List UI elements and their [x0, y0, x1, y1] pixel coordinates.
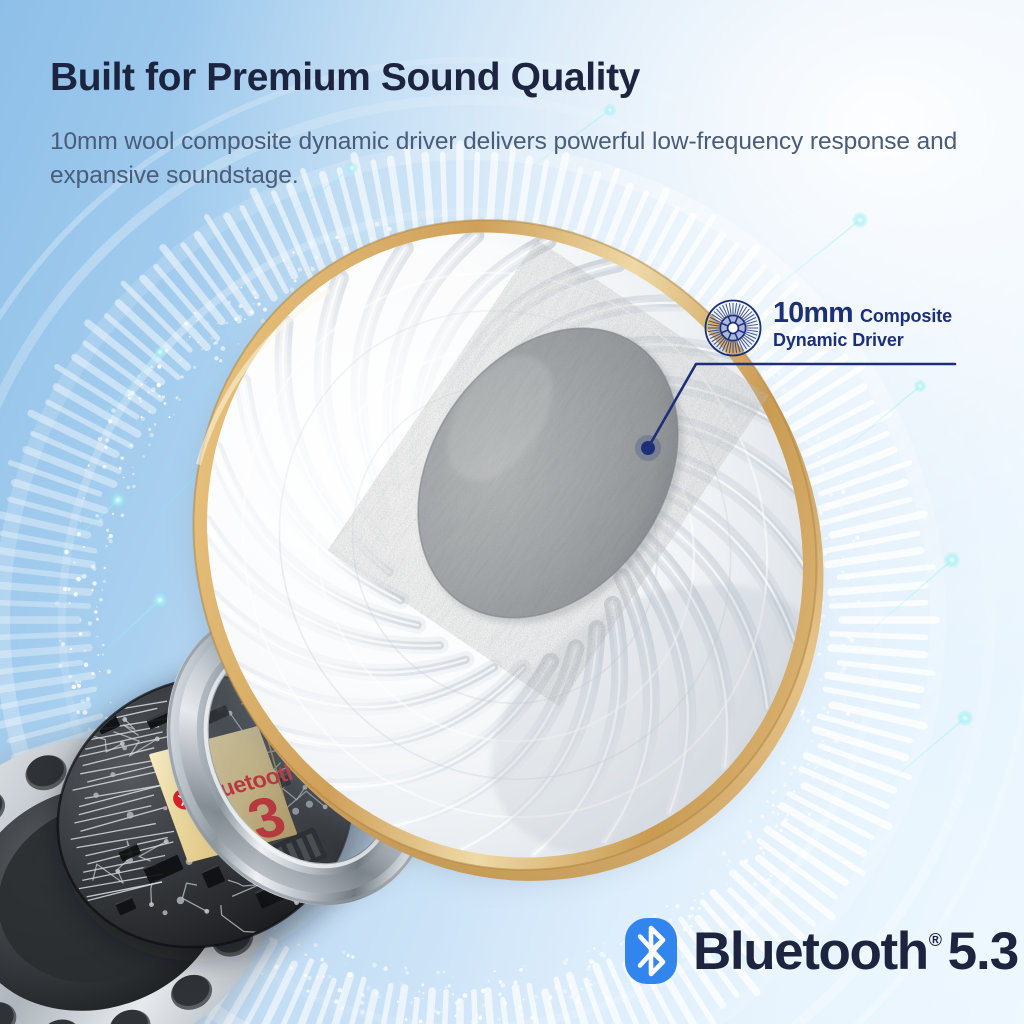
bluetooth-wordmark: Bluetooth ® 5.3 — [693, 925, 1018, 978]
callout-value: 10mm — [773, 297, 853, 329]
page-subtitle: 10mm wool composite dynamic driver deliv… — [50, 125, 1000, 193]
bluetooth-badge: Bluetooth ® 5.3 — [625, 918, 1018, 984]
bluetooth-registered-mark: ® — [929, 931, 941, 949]
callout-label-line2: Dynamic Driver — [773, 330, 1003, 351]
bluetooth-rune-icon — [625, 918, 677, 984]
callout-label-tail: Composite — [860, 306, 952, 326]
bluetooth-brand-text: Bluetooth — [693, 925, 928, 978]
speaker-driver-icon — [703, 298, 763, 358]
product-feature-banner: Bluetooth ® 5.3 — [0, 0, 1024, 1024]
driver-callout: 10mm Composite Dynamic Driver — [703, 296, 1003, 376]
bluetooth-version-text: 5.3 — [948, 925, 1019, 978]
leader-anchor-dot — [641, 441, 655, 455]
page-title: Built for Premium Sound Quality — [50, 58, 640, 97]
callout-text-block: 10mm Composite Dynamic Driver — [773, 298, 1003, 351]
leader-polyline — [648, 364, 955, 448]
